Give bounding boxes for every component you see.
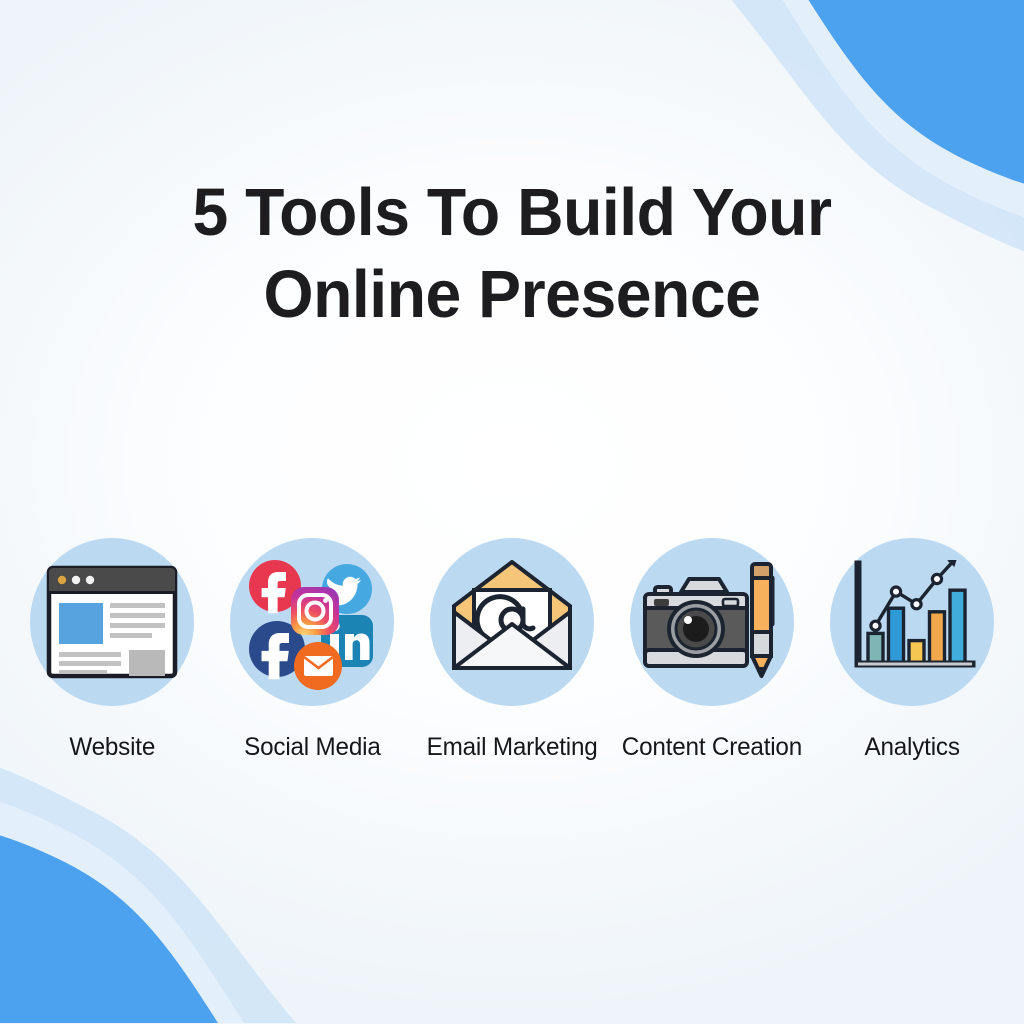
icon-circle-email-marketing bbox=[430, 538, 594, 706]
tool-label-email-marketing: Email Marketing bbox=[427, 733, 598, 762]
open-envelope-at-icon bbox=[444, 560, 580, 684]
chart-bar bbox=[950, 590, 965, 664]
tool-item-content-creation[interactable]: Content Creation bbox=[612, 538, 812, 762]
email-badge bbox=[294, 642, 342, 690]
tool-item-website[interactable]: Website bbox=[12, 538, 212, 762]
poster-title: 5 Tools To Build Your Online Presence bbox=[0, 172, 1024, 336]
chart-bar bbox=[868, 633, 883, 664]
chart-bar bbox=[930, 612, 945, 664]
tool-label-analytics: Analytics bbox=[864, 733, 959, 762]
instagram-badge bbox=[291, 587, 339, 635]
tool-item-email-marketing[interactable]: Email Marketing bbox=[412, 538, 612, 762]
social-network-cluster-icon bbox=[237, 549, 387, 695]
icon-circle-content-creation bbox=[630, 538, 794, 706]
chart-trend-marker bbox=[932, 574, 941, 583]
chart-bar bbox=[889, 608, 904, 664]
browser-window-icon bbox=[45, 564, 179, 680]
bar-chart-growth-icon bbox=[846, 560, 978, 684]
title-line-2: Online Presence bbox=[20, 254, 1003, 336]
tool-label-content-creation: Content Creation bbox=[622, 733, 802, 762]
tool-item-social-media[interactable]: Social Media bbox=[212, 538, 412, 762]
camera-and-pencil-icon bbox=[639, 558, 785, 686]
tools-row: Website bbox=[0, 538, 1024, 762]
chart-bar bbox=[909, 641, 924, 664]
chart-trend-marker bbox=[871, 621, 880, 630]
icon-circle-social-media bbox=[230, 538, 394, 706]
tool-label-social-media: Social Media bbox=[244, 733, 381, 762]
tool-label-website: Website bbox=[69, 733, 155, 762]
icon-circle-analytics bbox=[830, 538, 994, 706]
tool-item-analytics[interactable]: Analytics bbox=[812, 538, 1012, 762]
icon-circle-website bbox=[30, 538, 194, 706]
decorative-wave-bottom-left bbox=[0, 723, 336, 1024]
poster-canvas: 5 Tools To Build Your Online Presence bbox=[0, 0, 1024, 1024]
title-line-1: 5 Tools To Build Your bbox=[20, 172, 1003, 254]
chart-trend-marker bbox=[912, 600, 921, 609]
chart-trend-marker bbox=[891, 587, 900, 596]
